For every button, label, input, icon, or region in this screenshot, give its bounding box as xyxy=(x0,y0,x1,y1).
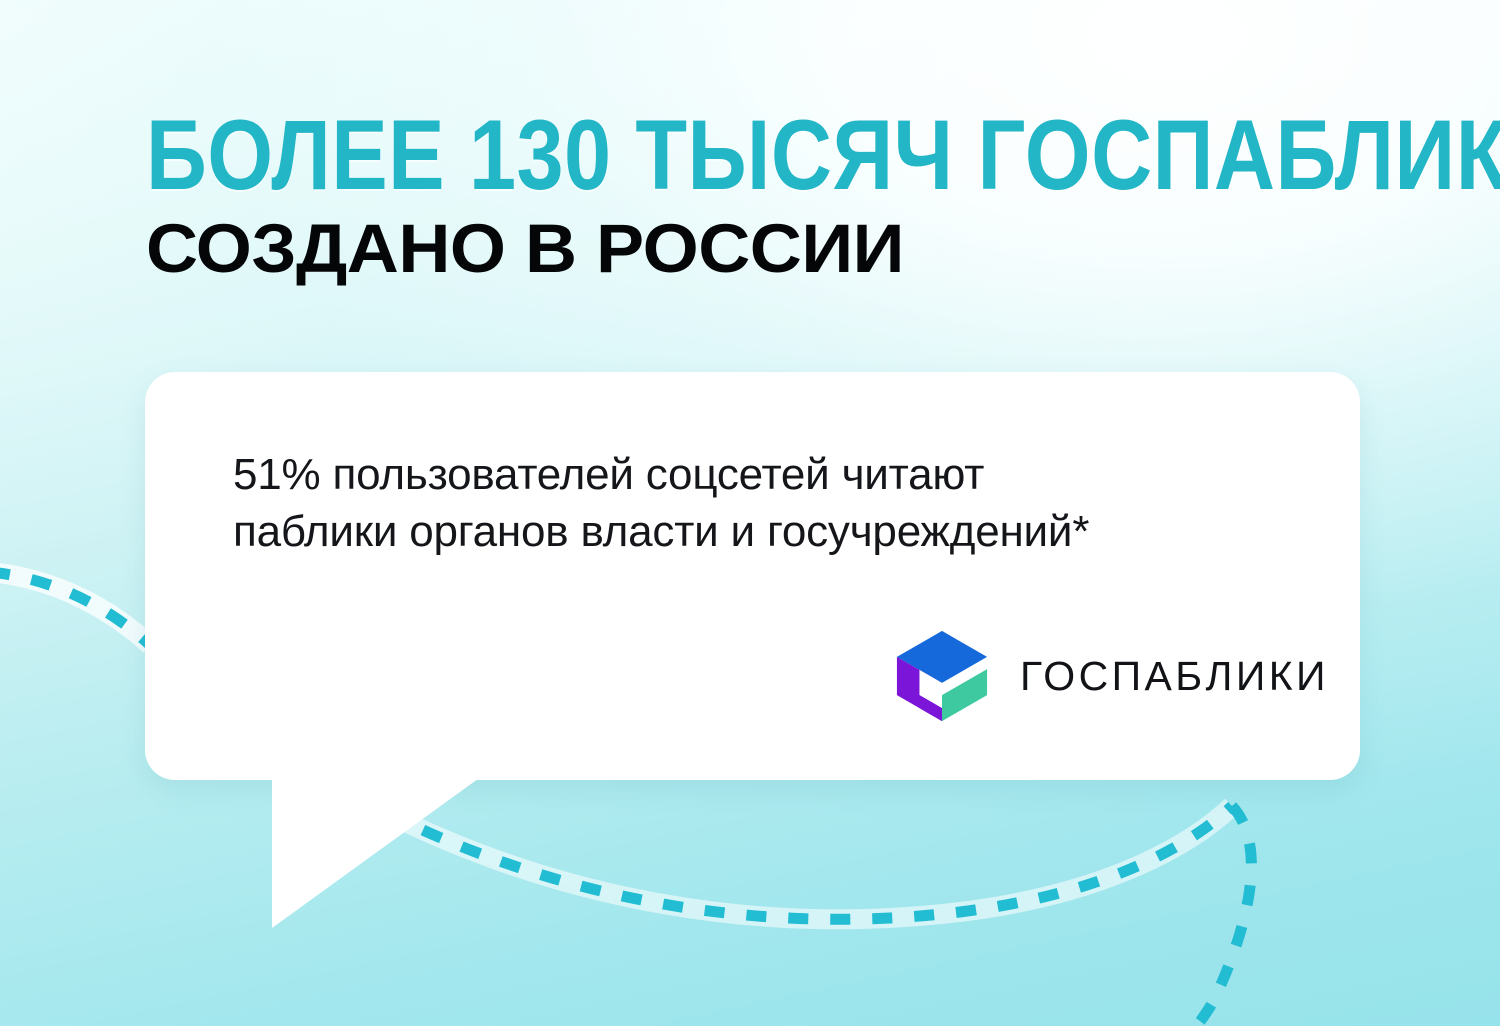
headline-line-2: СОЗДАНО В РОССИИ xyxy=(146,216,1421,282)
gospabliki-cube-logo-icon xyxy=(890,624,994,728)
dashed-curve-left xyxy=(0,572,150,645)
dashed-curve-bottom-glow xyxy=(385,806,1232,919)
headline: БОЛЕЕ 130 ТЫСЯЧ ГОСПАБЛИКОВ СОЗДАНО В РО… xyxy=(146,108,1366,282)
speech-bubble-tail xyxy=(272,776,482,928)
statistic-block: 51% пользователей соцсетей читают паблик… xyxy=(233,446,1133,560)
speech-bubble-body: 51% пользователей соцсетей читают паблик… xyxy=(145,372,1360,780)
statistic-text: 51% пользователей соцсетей читают паблик… xyxy=(233,446,1133,560)
dashed-curve-right xyxy=(1192,806,1251,1026)
headline-line-1: БОЛЕЕ 130 ТЫСЯЧ ГОСПАБЛИКОВ xyxy=(146,108,1189,202)
brand-lockup: ГОСПАБЛИКИ xyxy=(890,624,1329,728)
dashed-curve-bottom xyxy=(385,806,1232,919)
speech-bubble-card: 51% пользователей соцсетей читают паблик… xyxy=(145,372,1360,780)
infographic-poster: БОЛЕЕ 130 ТЫСЯЧ ГОСПАБЛИКОВ СОЗДАНО В РО… xyxy=(0,0,1500,1026)
dashed-curve-left-stroke xyxy=(0,572,150,645)
brand-name-label: ГОСПАБЛИКИ xyxy=(1020,656,1329,697)
